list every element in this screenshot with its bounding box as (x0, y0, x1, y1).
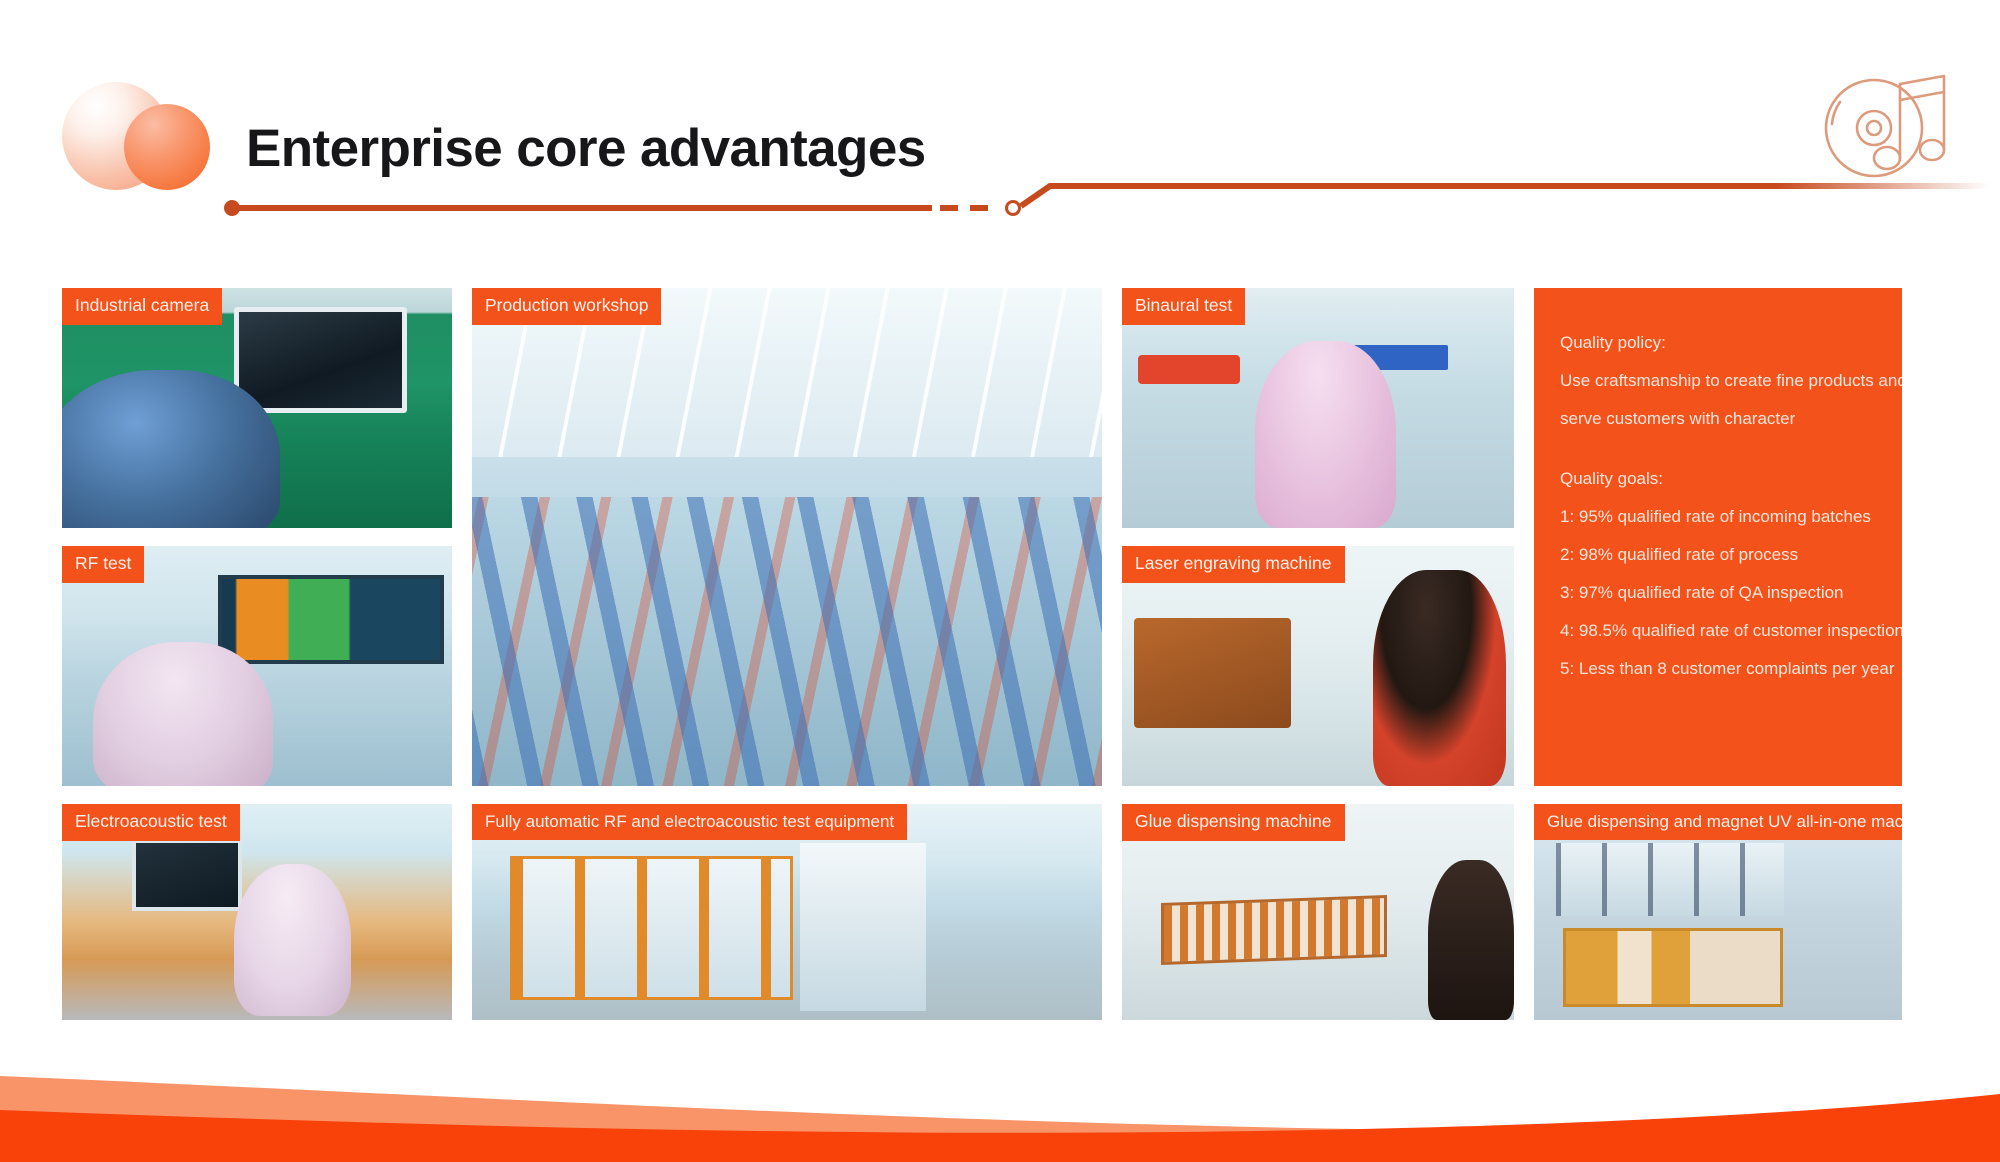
photo-production-workshop (472, 288, 1102, 786)
quality-policy-line-1: Use craftsmanship to create fine product… (1560, 362, 1876, 400)
quality-goal-5: 5: Less than 8 customer complaints per y… (1560, 650, 1876, 688)
quality-policy-line-2: serve customers with character (1560, 400, 1876, 438)
quality-policy-content: Quality policy: Use craftsmanship to cre… (1534, 288, 1902, 786)
quality-goal-4: 4: 98.5% qualified rate of customer insp… (1560, 612, 1876, 650)
caption-laser-engraving-machine: Laser engraving machine (1122, 546, 1345, 583)
gallery-item-glue-dispensing-machine[interactable]: Glue dispensing machine (1122, 804, 1514, 1020)
caption-industrial-camera: Industrial camera (62, 288, 222, 325)
title-divider (0, 170, 2000, 220)
caption-glue-magnet-uv-machine: Glue dispensing and magnet UV all-in-one… (1534, 804, 1902, 840)
quality-goal-2: 2: 98% qualified rate of process (1560, 536, 1876, 574)
gallery-item-glue-magnet-uv-machine[interactable]: Glue dispensing and magnet UV all-in-one… (1534, 804, 1902, 1020)
gallery-item-binaural-test[interactable]: Binaural test (1122, 288, 1514, 528)
caption-glue-dispensing-machine: Glue dispensing machine (1122, 804, 1345, 841)
caption-rf-test: RF test (62, 546, 144, 583)
bottom-wave-decoration (0, 1032, 2000, 1162)
quality-goal-3: 3: 97% qualified rate of QA inspection (1560, 574, 1876, 612)
gallery-item-laser-engraving-machine[interactable]: Laser engraving machine (1122, 546, 1514, 786)
caption-fully-automatic-test-equipment: Fully automatic RF and electroacoustic t… (472, 804, 907, 840)
caption-production-workshop: Production workshop (472, 288, 661, 325)
gallery-item-production-workshop[interactable]: Production workshop (472, 288, 1102, 786)
quality-goals-heading: Quality goals: (1560, 460, 1876, 498)
gallery-item-fully-automatic-test-equipment[interactable]: Fully automatic RF and electroacoustic t… (472, 804, 1102, 1020)
gallery-item-rf-test[interactable]: RF test (62, 546, 452, 786)
gallery-item-industrial-camera[interactable]: Industrial camera (62, 288, 452, 528)
quality-panel-spacer (1560, 438, 1876, 460)
quality-policy-panel: Quality policy: Use craftsmanship to cre… (1534, 288, 1902, 786)
caption-electroacoustic-test: Electroacoustic test (62, 804, 240, 841)
caption-binaural-test: Binaural test (1122, 288, 1245, 325)
quality-policy-heading: Quality policy: (1560, 324, 1876, 362)
quality-goal-1: 1: 95% qualified rate of incoming batche… (1560, 498, 1876, 536)
gallery-item-electroacoustic-test[interactable]: Electroacoustic test (62, 804, 452, 1020)
disc-music-note-icon (1812, 62, 1982, 192)
advantages-gallery: Industrial camera RF test Electroacousti… (62, 288, 1942, 1038)
